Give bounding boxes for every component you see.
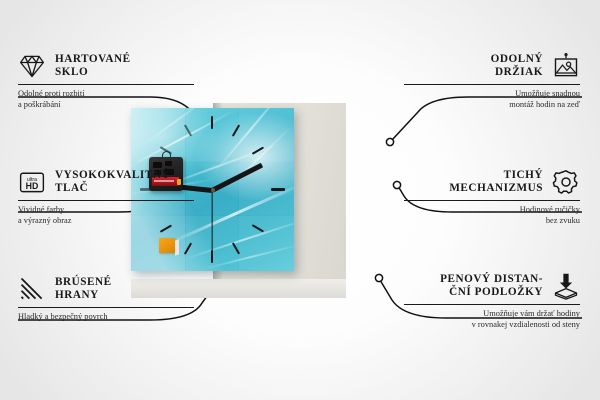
feature-desc-line1: Odolné proti rozbití: [18, 89, 194, 100]
feature-desc-line2: montáž hodin na zeď: [404, 100, 580, 111]
feature-title-line1: PENOVÝ DISTAN-: [440, 273, 543, 286]
feature-desc-line1: Hladký a bezpečný povrch: [18, 312, 194, 323]
feature-title-line2: ČNÍ PODLOŽKY: [440, 286, 543, 299]
clock-center-pin: [211, 188, 215, 192]
feature-title-line2: DRŽIAK: [491, 66, 543, 79]
clock-tick: [211, 116, 213, 129]
feature-title-line1: ODOLNÝ: [491, 53, 543, 66]
feature-divider: [18, 307, 194, 308]
feature-desc-line2: a poškrábání: [18, 100, 194, 111]
feature-title-line1: HARTOVANÉ: [55, 53, 131, 66]
feature-desc-line2: a výrazný obraz: [18, 216, 194, 227]
diamond-icon: [18, 52, 46, 80]
feature-foam-spacers: PENOVÝ DISTAN- ČNÍ PODLOŽKY Umožňuje vám…: [404, 272, 580, 330]
beveled-edges-icon: [18, 275, 46, 303]
clock-second-hand: [211, 190, 212, 253]
foam-spacer-pad: [159, 238, 175, 253]
svg-text:HD: HD: [26, 181, 39, 191]
gear-icon: [552, 168, 580, 196]
feature-desc-line1: Vividné farby: [18, 205, 194, 216]
feature-title-line2: HRANY: [55, 289, 112, 302]
connector-dot-bottom-right: [375, 274, 382, 281]
feature-divider: [404, 200, 580, 201]
feature-hardened-glass: HARTOVANÉ SKLO Odolné proti rozbití a po…: [18, 52, 194, 110]
connector-dot-middle-right: [393, 181, 400, 188]
feature-desc-line2: v rovnakej vzdialenosti od steny: [404, 320, 580, 331]
feature-silent-mechanism: TICHÝ MECHANIZMUS Hodinové ručičky bez z…: [404, 168, 580, 226]
clock-tick: [271, 188, 285, 191]
feature-durable-hanger: ODOLNÝ DRŽIAK Umožňuje snadnou montáž ho…: [404, 52, 580, 110]
feature-divider: [404, 84, 580, 85]
wall-frame-icon: [552, 52, 580, 80]
feature-title-line1: BRÚSENÉ: [55, 276, 112, 289]
feature-title-line1: VYSOKOKVALITNÝ: [55, 169, 170, 182]
feature-desc-line1: Umožňuje snadnou: [404, 89, 580, 100]
feature-title-line2: TLAČ: [55, 182, 170, 195]
feature-beveled-edges: BRÚSENÉ HRANY Hladký a bezpečný povrch: [18, 275, 194, 323]
feature-divider: [18, 200, 194, 201]
feature-desc-line2: bez zvuku: [404, 216, 580, 227]
ultra-hd-icon: ultra HD: [18, 168, 46, 196]
infographic-stage: HARTOVANÉ SKLO Odolné proti rozbití a po…: [0, 0, 600, 400]
feature-divider: [404, 304, 580, 305]
feature-desc-line1: Umožňuje vám držať hodiny: [404, 309, 580, 320]
feature-divider: [18, 84, 194, 85]
mechanism-hook: [162, 151, 171, 159]
feature-title-line1: TICHÝ: [449, 169, 543, 182]
feature-desc-line1: Hodinové ručičky: [404, 205, 580, 216]
connector-dot-top-right: [386, 138, 393, 145]
foam-pad-icon: [552, 272, 580, 300]
feature-title-line2: SKLO: [55, 66, 131, 79]
feature-high-quality-print: ultra HD VYSOKOKVALITNÝ TLAČ Vividné far…: [18, 168, 194, 226]
feature-title-line2: MECHANIZMUS: [449, 182, 543, 195]
